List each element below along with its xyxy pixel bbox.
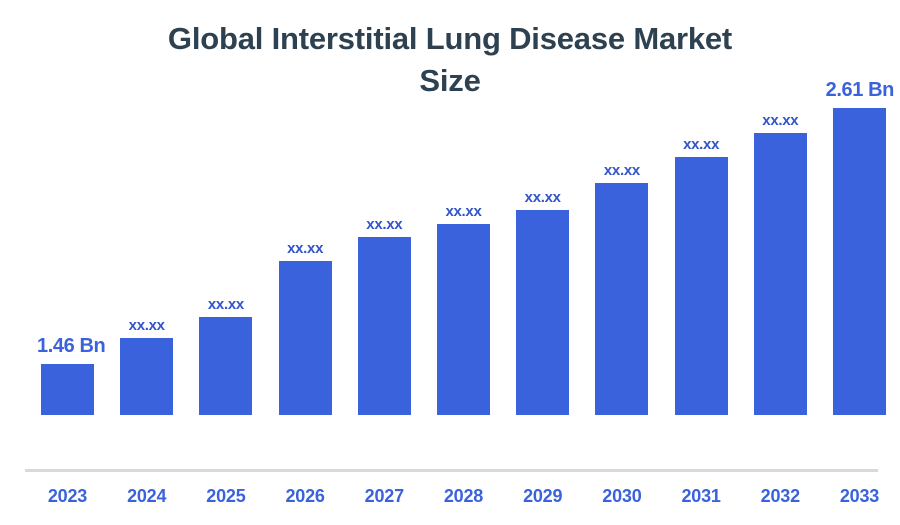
bar-value-label-2031: xx.xx (683, 136, 719, 153)
bar-2031[interactable]: xx.xx (675, 157, 728, 415)
bar-value-label-2030: xx.xx (604, 162, 640, 179)
bar-rect-2025[interactable] (199, 317, 252, 415)
x-axis-tick-2024: 2024 (120, 486, 173, 507)
bar-rect-2026[interactable] (279, 261, 332, 415)
bar-value-label-2033: 2.61 Bn (826, 79, 894, 102)
bar-value-label-2032: xx.xx (762, 112, 798, 129)
bar-rect-2024[interactable] (120, 338, 173, 415)
bar-2025[interactable]: xx.xx (199, 317, 252, 415)
bar-2032[interactable]: xx.xx (754, 133, 807, 415)
x-axis-tick-2025: 2025 (199, 486, 252, 507)
x-axis-tick-labels: 2023202420252026202720282029203020312032… (0, 486, 900, 525)
x-axis-tick-2028: 2028 (437, 486, 490, 507)
bar-rect-2031[interactable] (675, 157, 728, 415)
bar-rect-2033[interactable] (833, 108, 886, 415)
x-axis-tick-2031: 2031 (675, 486, 728, 507)
x-axis-line (25, 469, 878, 472)
x-axis-tick-2029: 2029 (516, 486, 569, 507)
bar-value-label-2028: xx.xx (445, 203, 481, 220)
bar-value-label-2026: xx.xx (287, 240, 323, 257)
bar-2028[interactable]: xx.xx (437, 224, 490, 415)
bar-value-label-2029: xx.xx (525, 189, 561, 206)
bar-rect-2032[interactable] (754, 133, 807, 415)
bar-value-label-2023: 1.46 Bn (37, 335, 105, 358)
bar-2023[interactable]: 1.46 Bn (41, 364, 94, 415)
bar-rect-2023[interactable] (41, 364, 94, 415)
x-axis-tick-2032: 2032 (754, 486, 807, 507)
x-axis-tick-2026: 2026 (279, 486, 332, 507)
x-axis-tick-2027: 2027 (358, 486, 411, 507)
bar-2030[interactable]: xx.xx (595, 183, 648, 415)
bar-2027[interactable]: xx.xx (358, 237, 411, 415)
bar-2026[interactable]: xx.xx (279, 261, 332, 415)
bar-rect-2028[interactable] (437, 224, 490, 415)
bar-rect-2027[interactable] (358, 237, 411, 415)
bar-value-label-2024: xx.xx (129, 317, 165, 334)
bar-2024[interactable]: xx.xx (120, 338, 173, 415)
x-axis-tick-2030: 2030 (595, 486, 648, 507)
plot-area: 1.46 Bnxx.xxxx.xxxx.xxxx.xxxx.xxxx.xxxx.… (0, 0, 900, 470)
bar-2029[interactable]: xx.xx (516, 210, 569, 415)
bar-rect-2030[interactable] (595, 183, 648, 415)
bar-2033[interactable]: 2.61 Bn (833, 108, 886, 415)
bar-value-label-2027: xx.xx (366, 216, 402, 233)
chart-container: Global Interstitial Lung Disease Market … (0, 0, 900, 525)
x-axis-tick-2023: 2023 (41, 486, 94, 507)
bar-rect-2029[interactable] (516, 210, 569, 415)
bar-value-label-2025: xx.xx (208, 296, 244, 313)
x-axis-tick-2033: 2033 (833, 486, 886, 507)
